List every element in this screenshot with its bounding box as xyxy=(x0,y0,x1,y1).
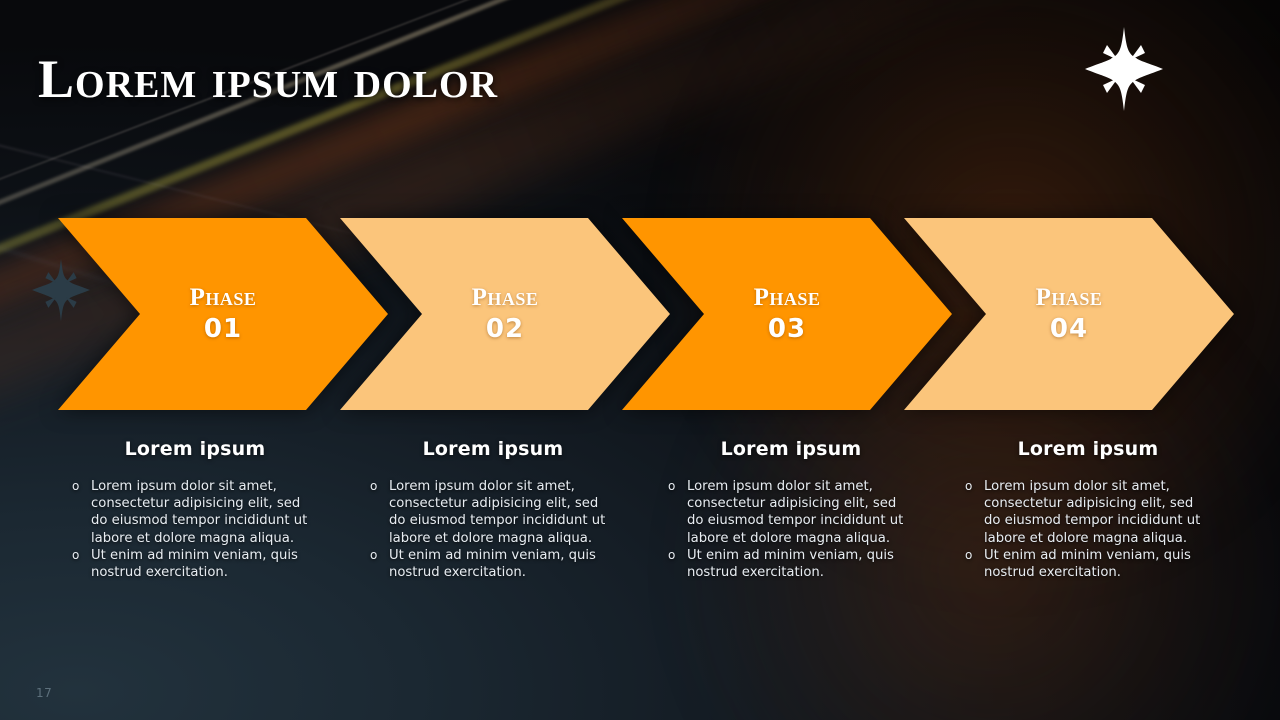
bullet-text: Lorem ipsum dolor sit amet, consectetur … xyxy=(91,479,307,546)
phase-chevron-shape xyxy=(622,218,952,410)
sparkle-star-icon xyxy=(1085,27,1163,111)
list-item: oLorem ipsum dolor sit amet, consectetur… xyxy=(668,478,914,547)
bullet-text: Lorem ipsum dolor sit amet, consectetur … xyxy=(984,479,1200,546)
phase-text-column-2: Lorem ipsum oLorem ipsum dolor sit amet,… xyxy=(370,438,616,581)
bullet-marker-icon: o xyxy=(668,478,675,495)
bullet-marker-icon: o xyxy=(965,547,972,564)
phase-chevron-3[interactable]: Phase 03 xyxy=(622,218,952,410)
phase-chevron-row: Phase 01 Phase 02 Phase 03 Phase 04 xyxy=(0,218,1280,410)
list-item: oLorem ipsum dolor sit amet, consectetur… xyxy=(72,478,318,547)
bullet-marker-icon: o xyxy=(965,478,972,495)
slide-canvas: Lorem ipsum dolor Phase 01 xyxy=(0,0,1280,720)
bullet-text: Ut enim ad minim veniam, quis nostrud ex… xyxy=(91,548,298,580)
bullet-text: Ut enim ad minim veniam, quis nostrud ex… xyxy=(687,548,894,580)
phase-bullet-list: oLorem ipsum dolor sit amet, consectetur… xyxy=(72,478,318,581)
phase-chevron-1[interactable]: Phase 01 xyxy=(58,218,388,410)
bullet-text: Ut enim ad minim veniam, quis nostrud ex… xyxy=(389,548,596,580)
page-number: 17 xyxy=(36,686,52,700)
bullet-text: Lorem ipsum dolor sit amet, consectetur … xyxy=(687,479,903,546)
list-item: oUt enim ad minim veniam, quis nostrud e… xyxy=(370,547,616,581)
bullet-text: Lorem ipsum dolor sit amet, consectetur … xyxy=(389,479,605,546)
list-item: oUt enim ad minim veniam, quis nostrud e… xyxy=(668,547,914,581)
phase-chevron-2[interactable]: Phase 02 xyxy=(340,218,670,410)
bullet-marker-icon: o xyxy=(72,478,79,495)
phase-chevron-shape xyxy=(340,218,670,410)
slide-title: Lorem ipsum dolor xyxy=(38,48,498,110)
phase-text-column-4: Lorem ipsum oLorem ipsum dolor sit amet,… xyxy=(965,438,1211,581)
phase-heading: Lorem ipsum xyxy=(965,438,1211,460)
bullet-marker-icon: o xyxy=(72,547,79,564)
phase-bullet-list: oLorem ipsum dolor sit amet, consectetur… xyxy=(965,478,1211,581)
phase-heading: Lorem ipsum xyxy=(370,438,616,460)
phase-heading: Lorem ipsum xyxy=(668,438,914,460)
bullet-marker-icon: o xyxy=(668,547,675,564)
bullet-text: Ut enim ad minim veniam, quis nostrud ex… xyxy=(984,548,1191,580)
phase-bullet-list: oLorem ipsum dolor sit amet, consectetur… xyxy=(370,478,616,581)
list-item: oLorem ipsum dolor sit amet, consectetur… xyxy=(965,478,1211,547)
bullet-marker-icon: o xyxy=(370,547,377,564)
list-item: oLorem ipsum dolor sit amet, consectetur… xyxy=(370,478,616,547)
phase-heading: Lorem ipsum xyxy=(72,438,318,460)
phase-chevron-shape xyxy=(58,218,388,410)
phase-text-column-1: Lorem ipsum oLorem ipsum dolor sit amet,… xyxy=(72,438,318,581)
list-item: oUt enim ad minim veniam, quis nostrud e… xyxy=(72,547,318,581)
list-item: oUt enim ad minim veniam, quis nostrud e… xyxy=(965,547,1211,581)
bullet-marker-icon: o xyxy=(370,478,377,495)
phase-bullet-list: oLorem ipsum dolor sit amet, consectetur… xyxy=(668,478,914,581)
phase-chevron-shape xyxy=(904,218,1234,410)
phase-text-column-3: Lorem ipsum oLorem ipsum dolor sit amet,… xyxy=(668,438,914,581)
phase-chevron-4[interactable]: Phase 04 xyxy=(904,218,1234,410)
